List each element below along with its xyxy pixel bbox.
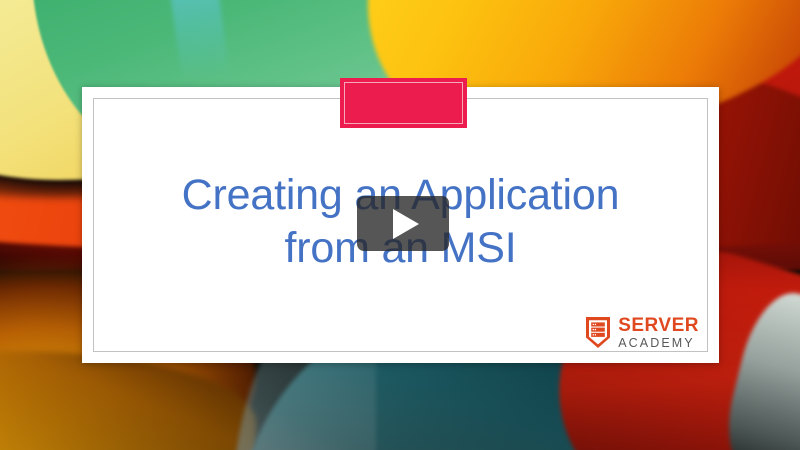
play-triangle-icon — [393, 209, 419, 239]
slide-accent-rectangle — [340, 78, 467, 128]
slide-accent-inner-border — [344, 82, 463, 124]
server-academy-logo: SERVER ACADEMY — [585, 316, 699, 350]
video-player[interactable]: Creating an Application from an MSI — [0, 0, 800, 450]
logo-word-academy: ACADEMY — [618, 337, 699, 350]
logo-word-server: SERVER — [618, 316, 699, 335]
play-button[interactable] — [357, 196, 449, 251]
server-shield-icon — [585, 316, 611, 349]
logo-wordmark: SERVER ACADEMY — [618, 316, 699, 350]
